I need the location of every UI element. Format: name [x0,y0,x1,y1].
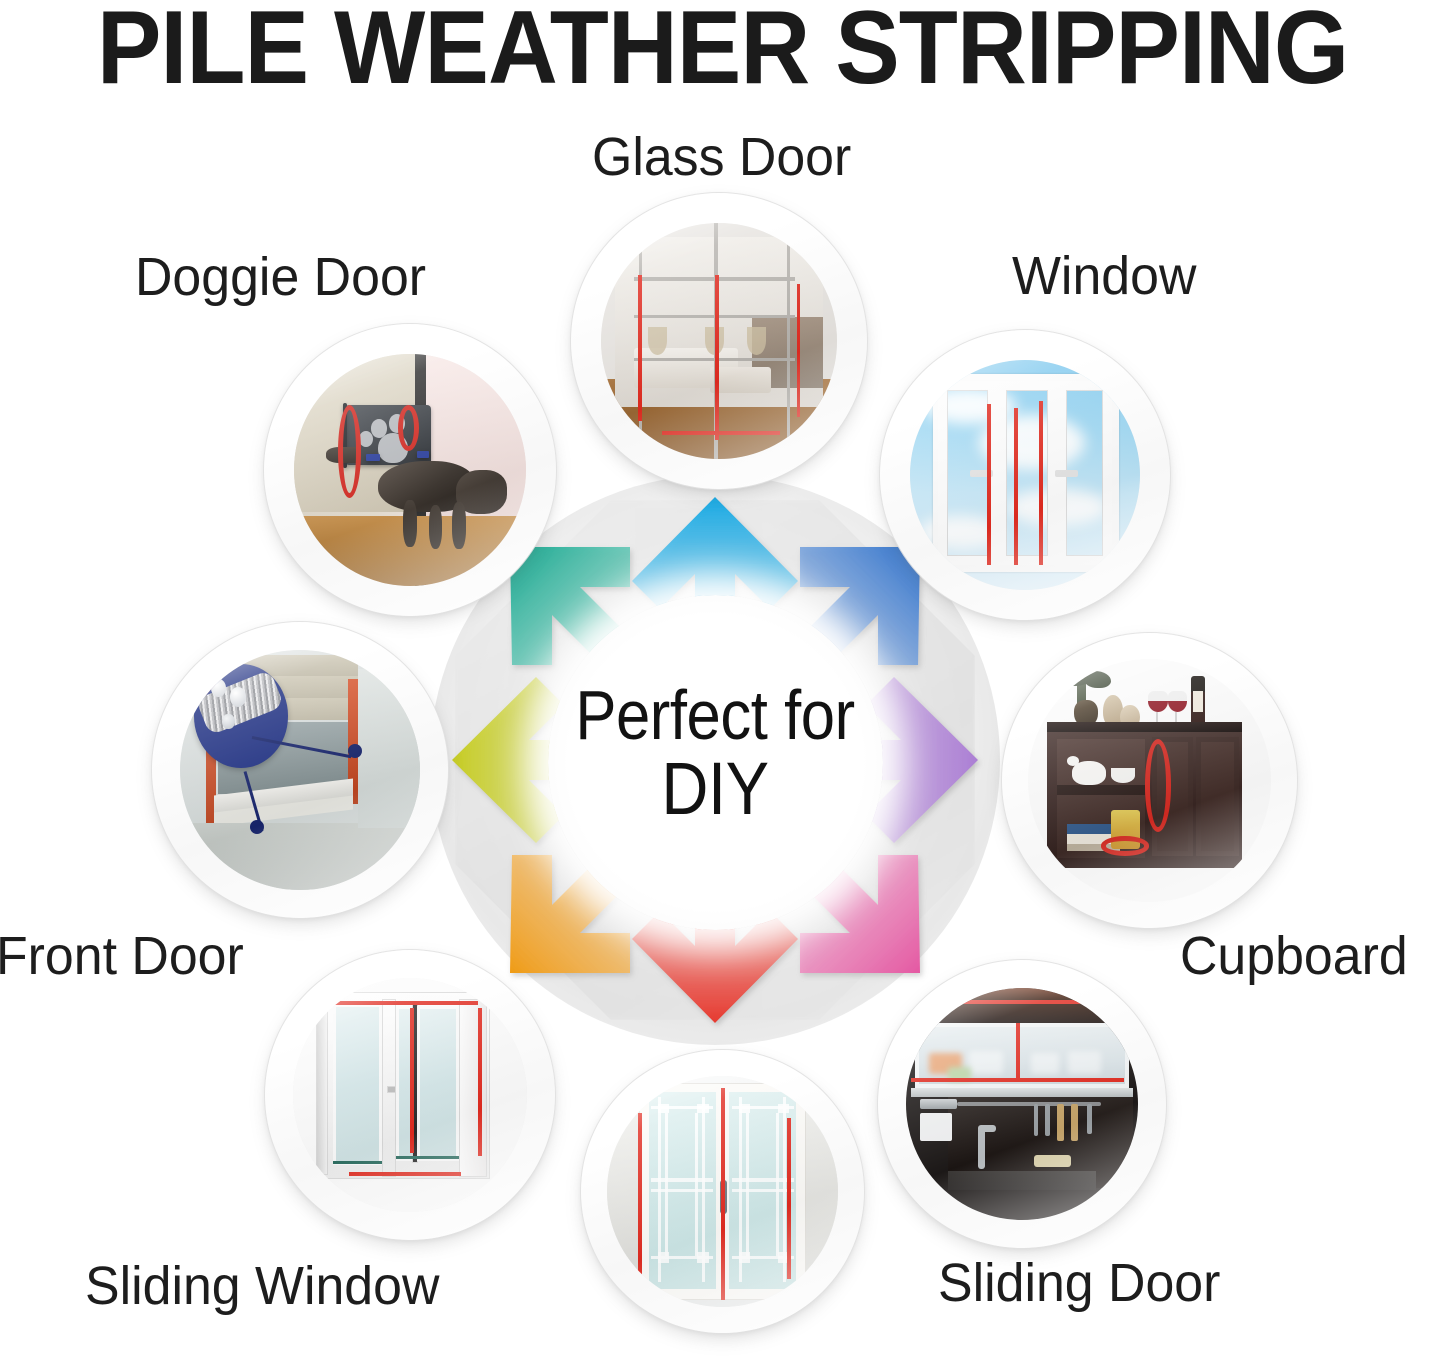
doggie-door-photo [294,354,526,586]
application-circle-glass-door[interactable] [571,193,867,489]
label-sliding-window: Sliding Window [85,1255,439,1317]
application-circle-sliding-window[interactable] [265,950,555,1240]
label-glass-door: Glass Door [592,126,851,188]
application-circle-front-door[interactable] [152,622,448,918]
page-title: PILE WEATHER STRIPPING [51,0,1395,103]
label-front-door: Front Door [0,925,244,987]
application-circle-patio-door[interactable] [581,1050,864,1333]
cupboard-photo [1028,659,1271,902]
label-window: Window [1012,245,1196,307]
application-circle-doggie-door[interactable] [264,324,556,616]
center-tagline-line1: Perfect for [575,676,854,754]
center-tagline-line2: DIY [552,751,878,826]
center-tagline: Perfect for DIY [552,680,878,827]
application-circle-sliding-door[interactable] [878,960,1166,1248]
magnifier-detail-circle [194,664,288,767]
label-sliding-door: Sliding Door [938,1252,1220,1314]
infographic-canvas: PILE WEATHER STRIPPING [0,0,1445,1359]
label-doggie-door: Doggie Door [135,246,426,308]
sliding-window-photo [293,978,527,1212]
label-cupboard: Cupboard [1180,925,1408,987]
window-photo [910,360,1140,590]
application-circle-window[interactable] [880,330,1170,620]
patio-door-photo [607,1076,838,1307]
glass-door-photo [601,223,837,459]
front-door-photo [180,650,420,890]
application-circle-cupboard[interactable] [1002,633,1297,928]
sliding-door-photo [906,988,1138,1220]
